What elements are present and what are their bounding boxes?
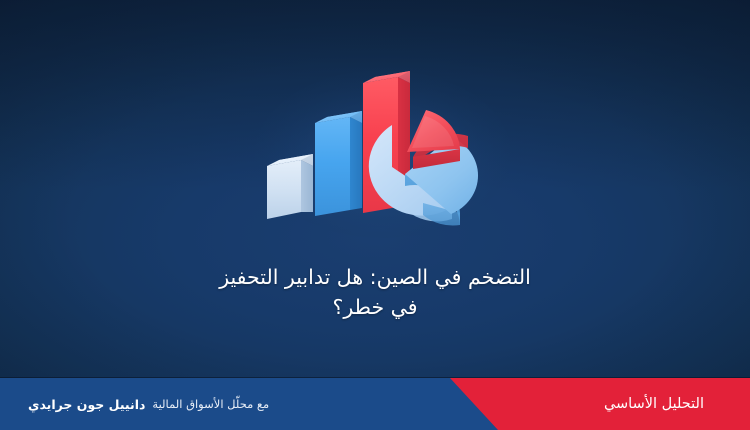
page-title: التضخم في الصين: هل تدابير التحفيز في خط… (0, 262, 750, 322)
footer-red-shape (450, 378, 750, 430)
analyst-name-label: دانييل جون جرايدي (28, 397, 145, 412)
bar-small (267, 154, 313, 219)
credit-prefix-label: مع محلّل الأسواق المالية (152, 397, 269, 411)
bar-medium (315, 111, 362, 216)
footer-bar: التحليل الأساسي مع محلّل الأسواق المالية… (0, 378, 750, 430)
category-badge[interactable]: التحليل الأساسي (604, 378, 704, 430)
hero-chart-illustration (255, 62, 510, 227)
title-line-1: التضخم في الصين: هل تدابير التحفيز (110, 262, 640, 292)
title-line-2: في خطر؟ (110, 292, 640, 322)
promo-card: التضخم في الصين: هل تدابير التحفيز في خط… (0, 0, 750, 430)
analyst-credit: مع محلّل الأسواق المالية دانييل جون جراي… (28, 378, 269, 430)
